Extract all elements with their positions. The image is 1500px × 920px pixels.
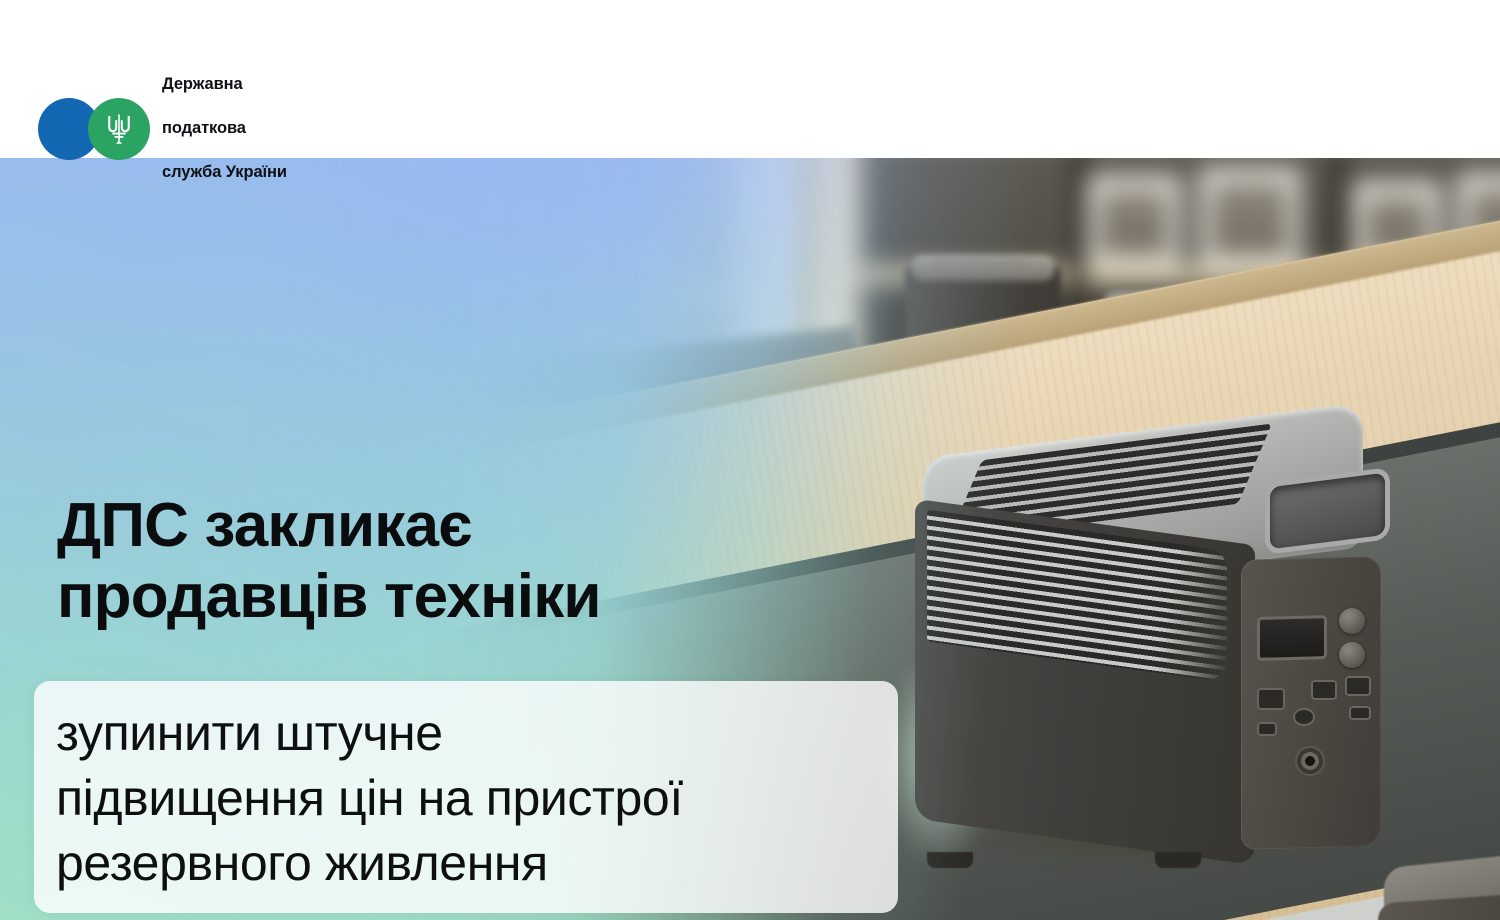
logo-green-circle-icon xyxy=(88,98,150,160)
shelf-item xyxy=(0,234,21,286)
device-lcd-screen xyxy=(1257,615,1327,661)
cabinet-shelf xyxy=(0,286,730,302)
logo-marks xyxy=(38,98,150,160)
device-button xyxy=(1339,642,1365,668)
shelf-item xyxy=(190,238,220,286)
foreground-power-station xyxy=(905,430,1375,860)
device-ac-outlet xyxy=(1311,680,1337,700)
subtitle-text: зупинити штучне підвищення цін на пристр… xyxy=(56,701,882,896)
subtitle-card: зупинити штучне підвищення цін на пристр… xyxy=(34,681,898,913)
shelf-item xyxy=(460,234,490,286)
product-box xyxy=(1200,168,1300,268)
shelf-item xyxy=(360,238,390,286)
device-ac-outlet xyxy=(1345,676,1371,696)
product-box xyxy=(1088,176,1180,268)
corner-power-station xyxy=(1378,858,1500,920)
dps-logo[interactable]: Державна податкова служба України xyxy=(38,52,287,206)
photo-stage: ДПС закликає продавців техніки зупинити … xyxy=(0,158,1500,920)
device-button xyxy=(1339,608,1365,634)
shelf-item xyxy=(580,222,606,286)
shelf-item xyxy=(630,236,658,286)
banner-root: Державна податкова служба України xyxy=(0,0,1500,920)
logo-line-3: служба України xyxy=(162,162,287,184)
shelf-item xyxy=(136,230,164,286)
device-usb-port xyxy=(1293,708,1315,726)
device-dc-port xyxy=(1297,748,1323,774)
device-ac-outlet xyxy=(1257,688,1285,710)
shelf-item xyxy=(310,226,336,286)
subtitle-line-1: зупинити штучне xyxy=(56,701,882,766)
page-title: ДПС закликає продавців техніки xyxy=(57,491,857,632)
subtitle-line-2: підвищення цін на пристрої xyxy=(56,766,882,831)
logo-line-1: Державна xyxy=(162,74,287,96)
logo-text: Державна податкова служба України xyxy=(162,52,287,206)
logo-line-2: податкова xyxy=(162,118,287,140)
device-foot xyxy=(1155,852,1201,868)
header-bar: Державна податкова служба України xyxy=(0,0,1500,158)
device-foot xyxy=(927,852,973,868)
shelf-item xyxy=(410,216,434,286)
device-cable-well xyxy=(1270,473,1385,550)
device-usb-port xyxy=(1257,722,1277,736)
shelf-item xyxy=(40,224,72,286)
device-usb-port xyxy=(1349,706,1371,720)
ukrainian-trident-icon xyxy=(106,113,132,145)
headline-line-2: продавців техніки xyxy=(57,562,857,633)
headline-line-1: ДПС закликає xyxy=(57,491,857,562)
shelf-item xyxy=(90,242,114,286)
subtitle-line-3: резервного живлення xyxy=(56,831,882,896)
